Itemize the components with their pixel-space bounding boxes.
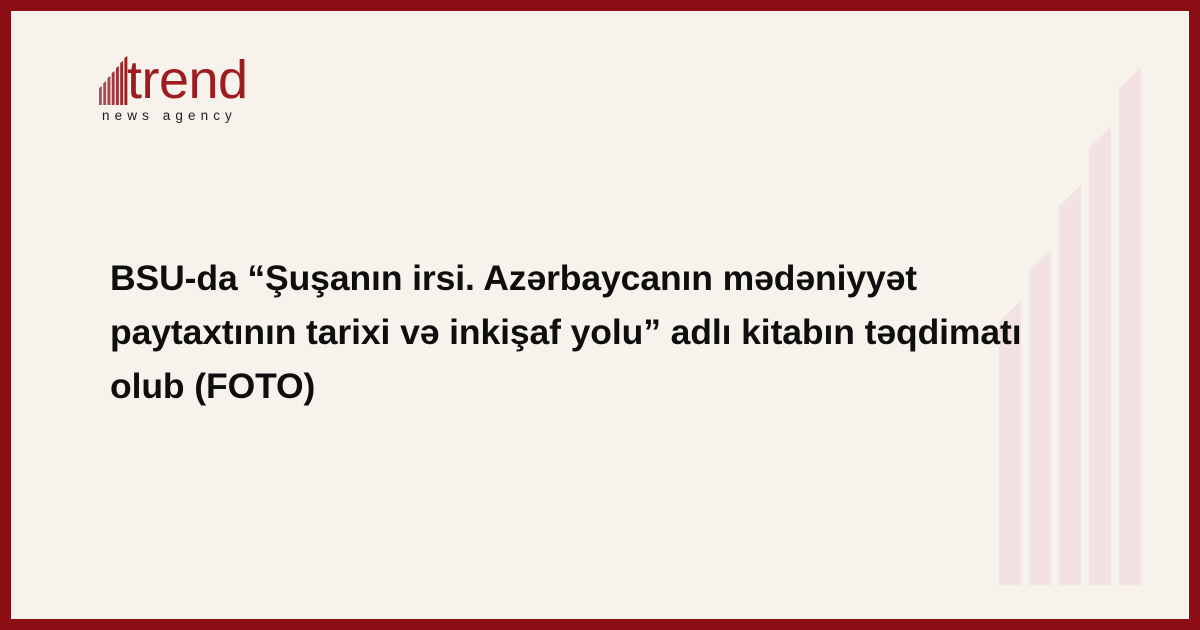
- article-headline: BSU-da “Şuşanın irsi. Azərbaycanın mədən…: [110, 251, 1095, 413]
- ascending-bar-chart-icon: [99, 56, 128, 105]
- logo-wordmark-text: trend: [127, 55, 248, 105]
- card-background: trend news agency BSU-da “Şuşanın irsi. …: [11, 11, 1189, 619]
- logo-wordmark-row: trend: [99, 49, 289, 105]
- social-share-card: trend news agency BSU-da “Şuşanın irsi. …: [0, 0, 1200, 630]
- trend-news-agency-logo[interactable]: trend news agency: [99, 49, 289, 123]
- logo-tagline: news agency: [102, 108, 289, 123]
